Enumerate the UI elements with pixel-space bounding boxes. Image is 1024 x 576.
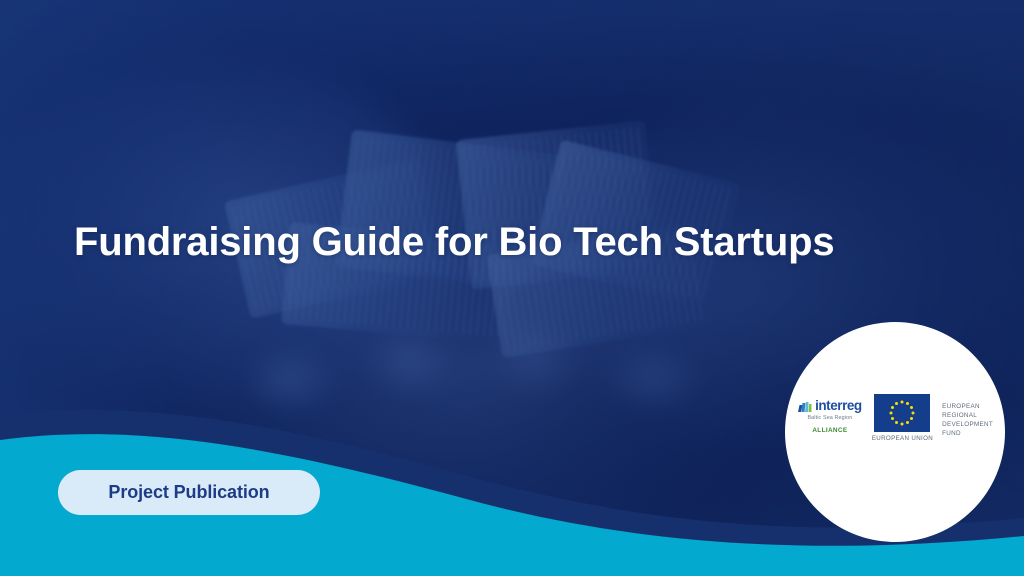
interreg-programme-label: Baltic Sea Region bbox=[807, 415, 852, 421]
interreg-wordmark: interreg bbox=[815, 399, 862, 413]
eu-flag-icon bbox=[874, 394, 930, 432]
funder-logo-row: interreg Baltic Sea Region ALLIANCE bbox=[785, 394, 1005, 442]
erdf-line-2: REGIONAL bbox=[942, 411, 993, 420]
interreg-lockup: interreg bbox=[798, 399, 862, 413]
erdf-line-4: FUND bbox=[942, 429, 993, 438]
erdf-line-3: DEVELOPMENT bbox=[942, 420, 993, 429]
erdf-line-1: EUROPEAN bbox=[942, 402, 993, 411]
project-publication-banner: Fundraising Guide for Bio Tech Startups … bbox=[0, 0, 1024, 576]
european-union-logo: EUROPEAN UNION bbox=[872, 394, 933, 442]
interreg-bars-icon bbox=[798, 402, 813, 413]
status-badge-label: Project Publication bbox=[108, 482, 269, 503]
erdf-fund-label: EUROPEAN REGIONAL DEVELOPMENT FUND bbox=[942, 394, 993, 439]
status-badge[interactable]: Project Publication bbox=[58, 470, 320, 515]
interreg-logo: interreg Baltic Sea Region ALLIANCE bbox=[797, 394, 863, 434]
interreg-project-label: ALLIANCE bbox=[812, 427, 847, 434]
funder-logo-circle: interreg Baltic Sea Region ALLIANCE bbox=[785, 322, 1005, 542]
eu-flag-caption: EUROPEAN UNION bbox=[872, 435, 933, 442]
page-title: Fundraising Guide for Bio Tech Startups bbox=[74, 219, 894, 265]
